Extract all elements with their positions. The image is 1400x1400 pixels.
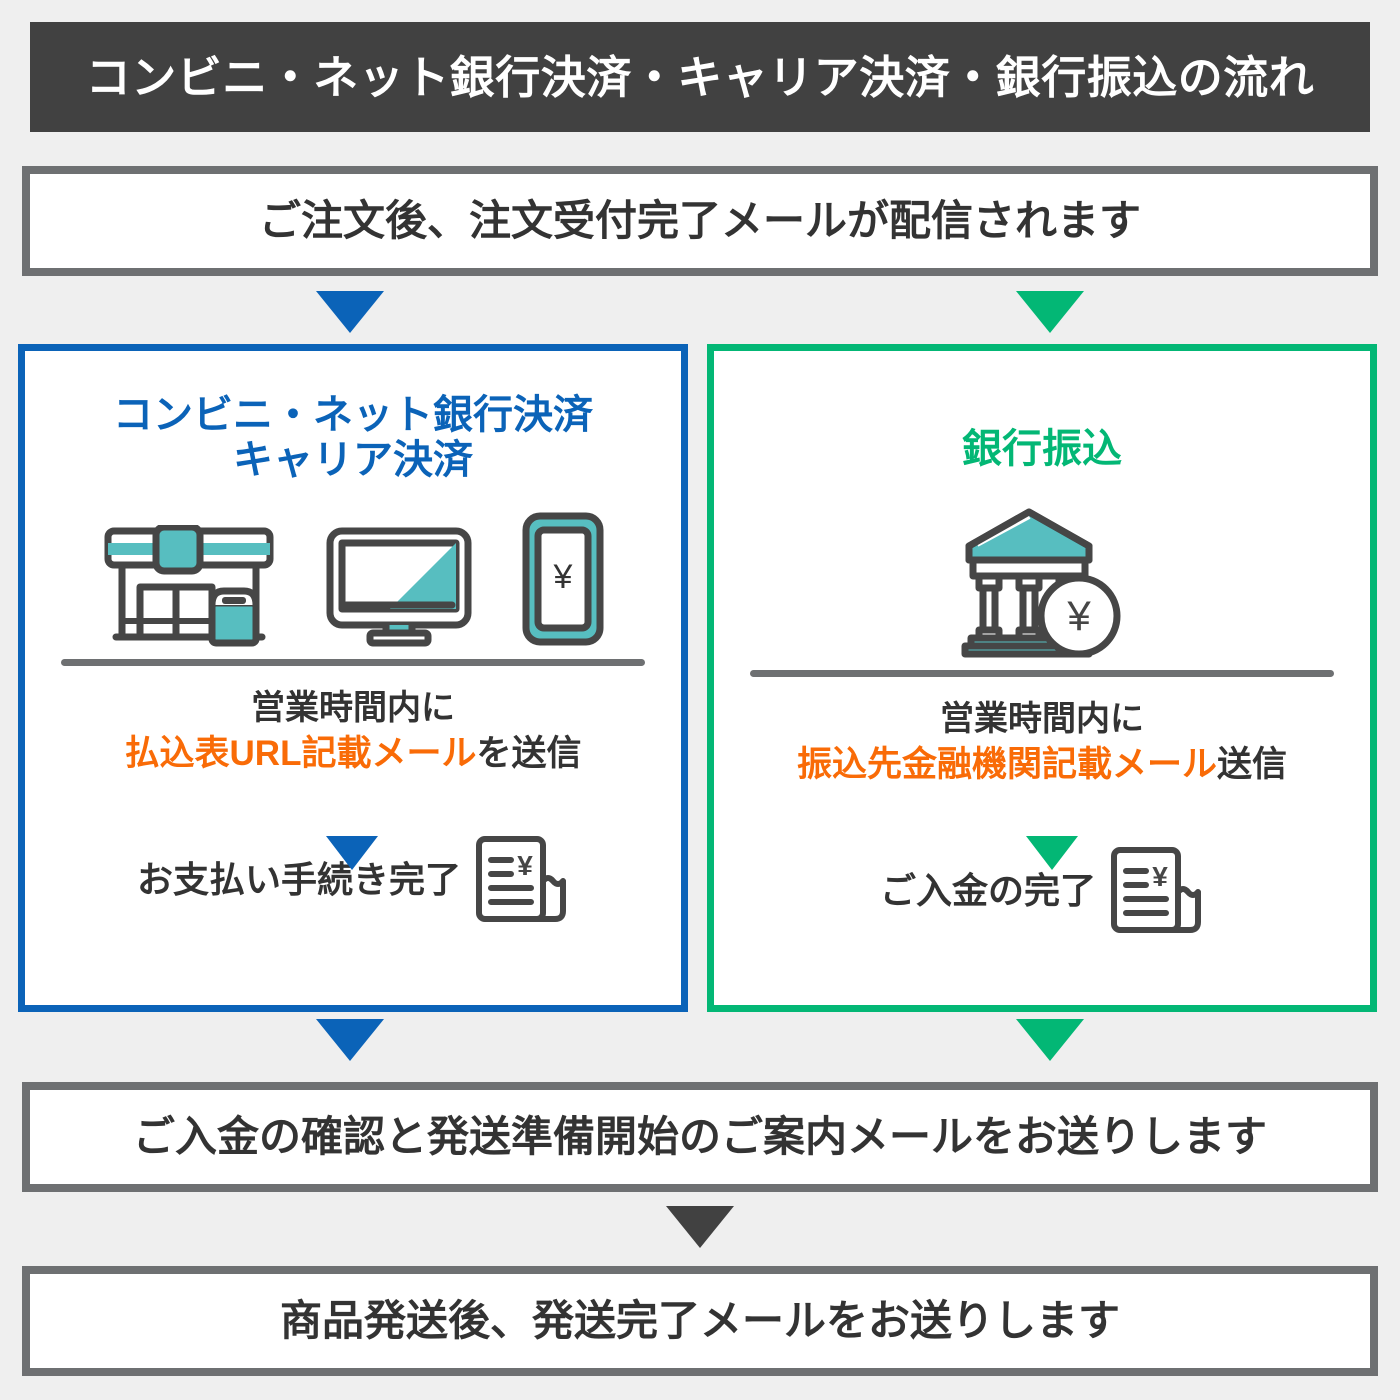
page-title: コンビニ・ネット銀行決済・キャリア決済・銀行振込の流れ [86, 55, 1315, 100]
conveni-divider [61, 659, 645, 666]
step-box-payment-confirmed: ご入金の確認と発送準備開始のご案内メールをお送りします [22, 1082, 1378, 1192]
svg-text:¥: ¥ [517, 850, 533, 881]
bank-complete-label: ご入金の完了 [880, 873, 1096, 909]
panel-conveni-heading-line1: コンビニ・ネット銀行決済 [113, 393, 593, 437]
svg-text:¥: ¥ [553, 558, 573, 596]
conveni-note-highlight: 払込表URL記載メール [125, 734, 477, 773]
diagram-title-bar: コンビニ・ネット銀行決済・キャリア決済・銀行振込の流れ [30, 22, 1370, 132]
step-order-label: ご注文後、注文受付完了メールが配信されます [259, 200, 1141, 242]
receipt-yen-icon: ¥ [469, 834, 569, 926]
arrow-down-bank-to-complete-icon [1026, 836, 1078, 870]
arrow-down-to-bank-icon [1016, 291, 1084, 333]
step-confirm-label: ご入金の確認と発送準備開始のご案内メールをお送りします [133, 1116, 1267, 1158]
panel-bank-heading-line1: 銀行振込 [962, 427, 1122, 471]
conveni-note-line1: 営業時間内に [25, 688, 681, 729]
conveni-note: 営業時間内に 払込表URL記載メールを送信 [25, 688, 681, 776]
svg-text:¥: ¥ [1152, 861, 1168, 892]
convenience-store-icon [100, 525, 278, 647]
receipt-yen-icon: ¥ [1104, 845, 1204, 937]
desktop-monitor-icon [324, 525, 474, 647]
conveni-icon-row: ¥ [25, 497, 681, 647]
bank-note-suffix: 送信 [1217, 745, 1287, 784]
bank-divider [750, 670, 1334, 677]
bank-note: 営業時間内に 振込先金融機関記載メール送信 [714, 699, 1370, 787]
panel-bank-transfer: 銀行振込 [707, 344, 1377, 1012]
panel-conveni-heading-line2: キャリア決済 [37, 438, 669, 483]
conveni-complete-label: お支払い手続き完了 [137, 862, 461, 898]
panel-convenience-payment: コンビニ・ネット銀行決済 キャリア決済 [18, 344, 688, 1012]
bank-note-highlight: 振込先金融機関記載メール [797, 745, 1217, 784]
step-box-shipped: 商品発送後、発送完了メールをお送りします [22, 1266, 1378, 1376]
conveni-note-suffix: を送信 [476, 734, 581, 773]
panel-conveni-heading: コンビニ・ネット銀行決済 キャリア決済 [25, 393, 681, 483]
arrow-down-conveni-to-confirm-icon [316, 1019, 384, 1061]
arrow-down-bank-to-confirm-icon [1016, 1019, 1084, 1061]
arrow-down-to-shipped-icon [666, 1206, 734, 1248]
svg-text:¥: ¥ [1066, 592, 1091, 639]
bank-icon-row: ¥ [714, 508, 1370, 658]
payment-flow-diagram: コンビニ・ネット銀行決済・キャリア決済・銀行振込の流れ ご注文後、注文受付完了メ… [0, 0, 1400, 1400]
bank-note-line1: 営業時間内に [714, 699, 1370, 740]
step-shipped-label: 商品発送後、発送完了メールをお送りします [280, 1300, 1120, 1342]
arrow-down-to-conveni-icon [316, 291, 384, 333]
bank-building-yen-icon: ¥ [957, 506, 1127, 658]
step-box-order-received: ご注文後、注文受付完了メールが配信されます [22, 166, 1378, 276]
smartphone-yen-icon: ¥ [520, 511, 606, 647]
panel-bank-heading: 銀行振込 [714, 427, 1370, 472]
arrow-down-conveni-to-complete-icon [326, 836, 378, 870]
